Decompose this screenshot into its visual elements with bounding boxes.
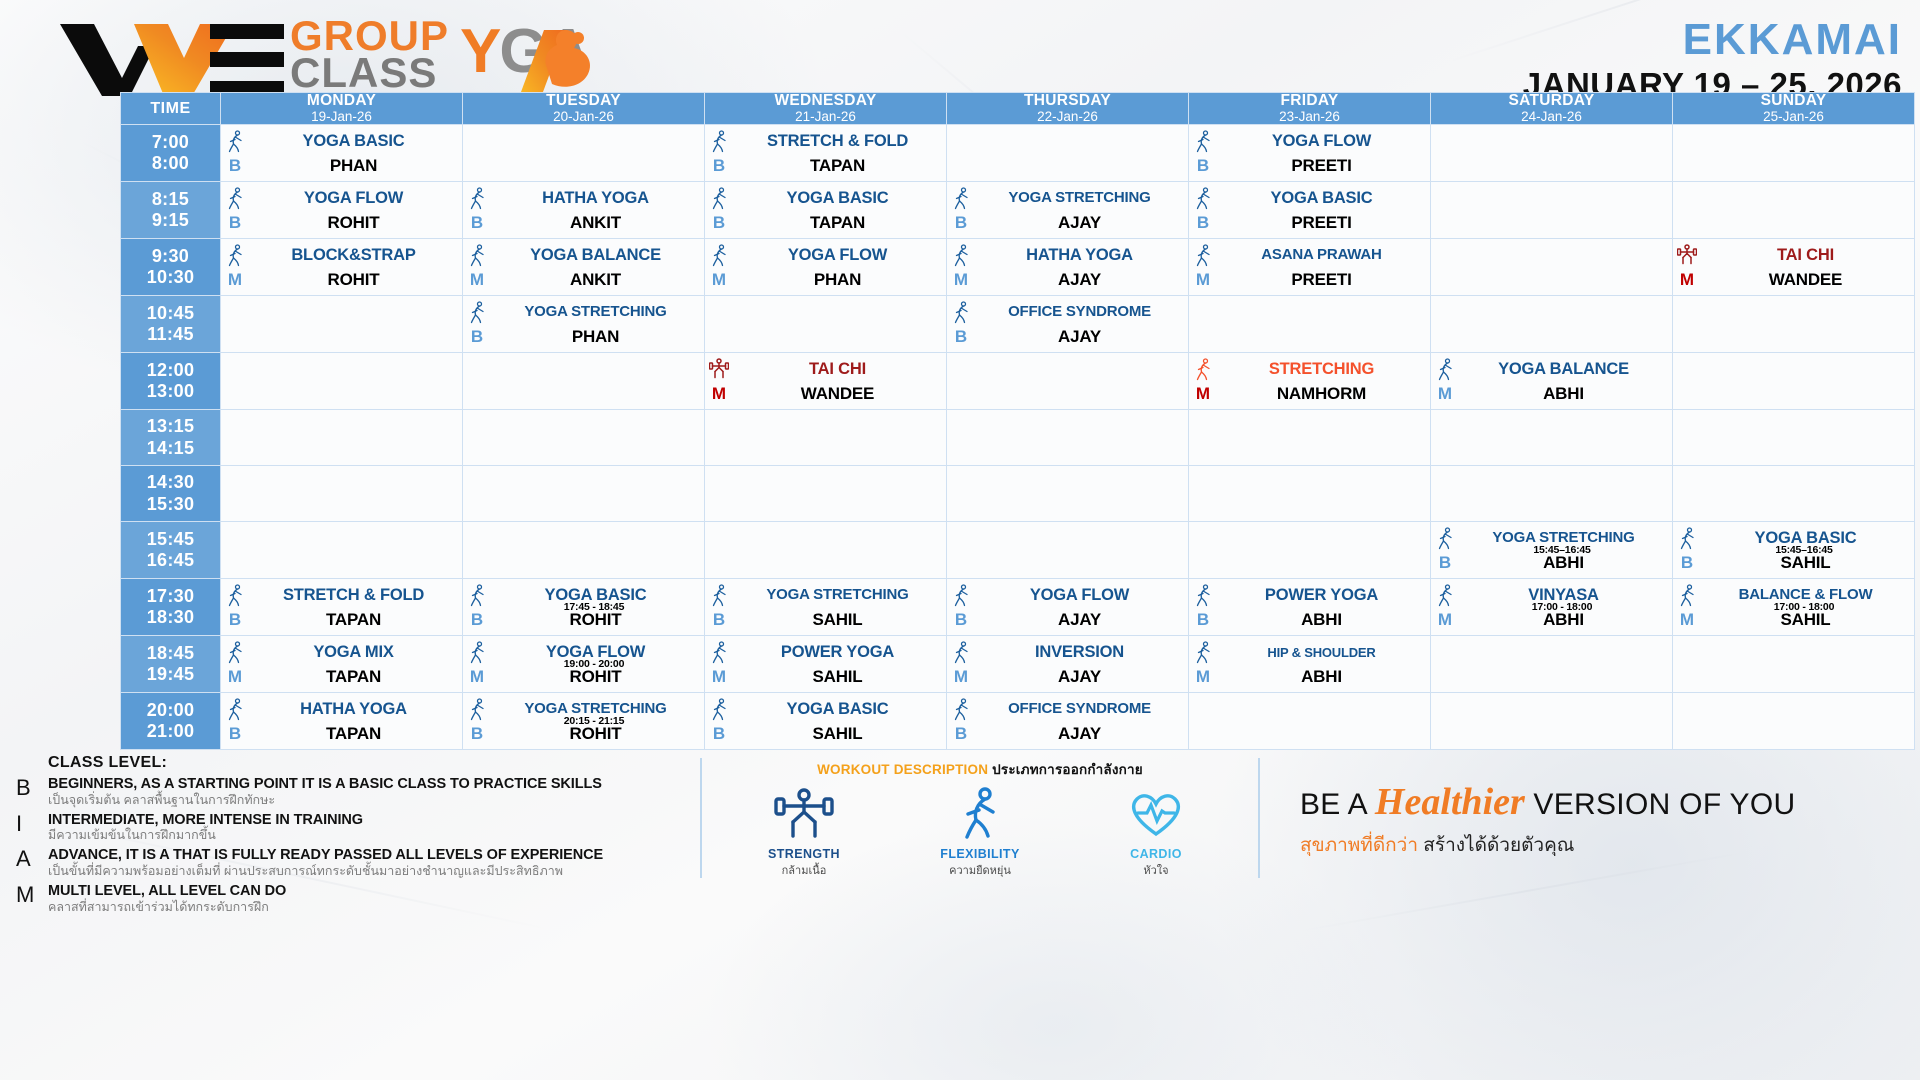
instructor-name: WANDEE	[733, 384, 942, 404]
flexibility-icon-wrap	[708, 697, 730, 721]
class-slot[interactable]: STRETCH & FOLDBTAPAN	[221, 579, 463, 636]
class-level: M	[1676, 270, 1698, 290]
flexibility-icon-wrap	[224, 583, 246, 607]
class-level: M	[1434, 384, 1456, 404]
schedule-row: 15:4516:45YOGA STRETCHING15:45–16:45BABH…	[121, 522, 1915, 579]
flexibility-icon-wrap	[466, 186, 488, 210]
workout-sub-strength: กล้ามเนื้อ	[729, 861, 879, 879]
instructor-name: PREETI	[1217, 156, 1426, 176]
time-end: 14:15	[121, 438, 220, 459]
instructor-name: PHAN	[733, 270, 942, 290]
flexibility-icon-wrap	[466, 300, 488, 324]
time-start: 15:45	[121, 529, 220, 550]
flexibility-icon-wrap	[224, 640, 246, 664]
class-slot[interactable]: VINYASA17:00 - 18:00MABHI	[1431, 579, 1673, 636]
class-level: B	[224, 610, 246, 630]
class-level: B	[950, 724, 972, 744]
class-level: B	[1192, 610, 1214, 630]
flexibility-icon	[953, 641, 970, 664]
instructor-name: ABHI	[1217, 610, 1426, 630]
class-level: M	[1192, 667, 1214, 687]
flexibility-icon-wrap	[1192, 357, 1214, 381]
empty-slot	[463, 125, 705, 182]
empty-slot	[1189, 466, 1431, 522]
empty-slot	[1431, 693, 1673, 750]
time-slot-cell: 10:4511:45	[121, 296, 221, 353]
class-slot[interactable]: YOGA STRETCHING20:15 - 21:15BROHIT	[463, 693, 705, 750]
flexibility-icon	[1195, 187, 1212, 210]
slogan-1c: VERSION OF YOU	[1525, 788, 1796, 821]
day-name: FRIDAY	[1189, 93, 1430, 109]
time-slot-cell: 17:3018:30	[121, 579, 221, 636]
time-start: 10:45	[121, 303, 220, 324]
workout-label-cardio: CARDIO	[1081, 847, 1231, 861]
flexibility-icon-wrap	[466, 583, 488, 607]
time-slot-cell: 18:4519:45	[121, 636, 221, 693]
class-level: B	[466, 724, 488, 744]
class-slot[interactable]: YOGA BASIC15:45–16:45BSAHIL	[1673, 522, 1915, 579]
class-slot[interactable]: YOGA BASICBPHAN	[221, 125, 463, 182]
instructor-name: AJAY	[975, 270, 1184, 290]
class-level-desc-en: BEGINNERS, AS A STARTING POINT IT IS A B…	[48, 776, 780, 793]
empty-slot	[1673, 353, 1915, 410]
class-slot[interactable]: YOGA STRETCHINGBPHAN	[463, 296, 705, 353]
instructor-name: TAPAN	[733, 156, 942, 176]
flexibility-icon-wrap	[224, 186, 246, 210]
day-date: 20-Jan-26	[463, 109, 704, 125]
class-slot[interactable]: YOGA FLOWBPREETI	[1189, 125, 1431, 182]
time-slot-cell: 7:008:00	[121, 125, 221, 182]
class-level: M	[708, 384, 730, 404]
class-name: HIP & SHOULDER	[1217, 646, 1426, 659]
day-date: 25-Jan-26	[1673, 109, 1914, 125]
time-slot-cell: 12:0013:00	[121, 353, 221, 410]
flexibility-icon	[469, 641, 486, 664]
class-level: B	[950, 327, 972, 347]
class-level: B	[1434, 553, 1456, 573]
instructor-name: TAPAN	[249, 667, 458, 687]
flexibility-icon-wrap	[224, 697, 246, 721]
day-date: 24-Jan-26	[1431, 109, 1672, 125]
flexibility-icon-wrap	[708, 243, 730, 267]
empty-slot	[705, 466, 947, 522]
time-column-header: TIME	[121, 93, 221, 125]
cardio-icon	[1127, 786, 1185, 840]
workout-title-en: WORKOUT DESCRIPTION	[817, 762, 988, 777]
instructor-name: PHAN	[491, 327, 700, 347]
schedule-row: 10:4511:45YOGA STRETCHINGBPHANOFFICE SYN…	[121, 296, 1915, 353]
flexibility-icon	[1437, 584, 1454, 607]
strength-icon-wrap	[708, 357, 730, 381]
flexibility-icon	[227, 698, 244, 721]
day-date: 21-Jan-26	[705, 109, 946, 125]
flexibility-icon	[953, 244, 970, 267]
flexibility-icon-wrap	[1676, 583, 1698, 607]
class-level: B	[708, 156, 730, 176]
class-slot[interactable]: YOGA FLOWMPHAN	[705, 239, 947, 296]
instructor-name: TAPAN	[249, 610, 458, 630]
time-slot-cell: 8:159:15	[121, 182, 221, 239]
workout-label-strength: STRENGTH	[729, 847, 879, 861]
class-slot[interactable]: STRETCHINGMNAMHORM	[1189, 353, 1431, 410]
flexibility-icon	[711, 187, 728, 210]
instructor-name: ROHIT	[491, 610, 700, 630]
class-time-note: 17:45 - 18:45	[488, 601, 700, 613]
class-name: OFFICE SYNDROME	[975, 701, 1184, 716]
day-date: 19-Jan-26	[221, 109, 462, 125]
flexibility-icon	[1679, 584, 1696, 607]
flexibility-icon-wrap	[466, 697, 488, 721]
class-time-note: 19:00 - 20:00	[488, 658, 700, 670]
workout-label-flexibility: FLEXIBILITY	[905, 847, 1055, 861]
page-footer: CLASS LEVEL: BBEGINNERS, AS A STARTING P…	[0, 752, 1920, 1080]
class-name: HATHA YOGA	[491, 190, 700, 207]
schedule-row: 9:3010:30BLOCK&STRAPMROHITYOGA BALANCEMA…	[121, 239, 1915, 296]
flexibility-icon-wrap	[950, 697, 972, 721]
brand-logo: GROUP CLASS YGA	[60, 8, 740, 100]
workout-sub-flexibility: ความยืดหยุ่น	[905, 861, 1055, 879]
flexibility-icon-wrap	[1676, 526, 1698, 550]
time-start: 20:00	[121, 700, 220, 721]
class-name: HATHA YOGA	[249, 701, 458, 718]
empty-slot	[1189, 296, 1431, 353]
schedule-body: 7:008:00YOGA BASICBPHANSTRETCH & FOLDBTA…	[121, 125, 1915, 750]
empty-slot	[1431, 410, 1673, 466]
class-slot[interactable]: HATHA YOGABANKIT	[463, 182, 705, 239]
slogan-2b: สร้างได้ด้วยตัวคุณ	[1423, 835, 1574, 856]
time-end: 13:00	[121, 381, 220, 402]
schedule-row: 18:4519:45YOGA MIXMTAPANYOGA FLOW19:00 -…	[121, 636, 1915, 693]
class-name: BLOCK&STRAP	[249, 247, 458, 264]
time-start: 7:00	[121, 132, 220, 153]
class-slot[interactable]: STRETCH & FOLDBTAPAN	[705, 125, 947, 182]
day-column-header-friday: FRIDAY23-Jan-26	[1189, 93, 1431, 125]
logo-yoga-y: Y	[460, 17, 499, 86]
flexibility-icon-wrap	[466, 243, 488, 267]
instructor-name: AJAY	[975, 610, 1184, 630]
slogan-2a: สุขภาพที่ดีกว่า	[1300, 835, 1423, 856]
instructor-name: ROHIT	[249, 213, 458, 233]
instructor-name: AJAY	[975, 667, 1184, 687]
flexibility-icon-wrap	[950, 640, 972, 664]
class-level: B	[466, 327, 488, 347]
instructor-name: SAHIL	[1701, 553, 1910, 573]
flexibility-icon	[1195, 584, 1212, 607]
time-slot-cell: 15:4516:45	[121, 522, 221, 579]
class-time-note: 20:15 - 21:15	[488, 715, 700, 727]
class-level-letter: B	[10, 776, 48, 799]
class-slot[interactable]: YOGA STRETCHING15:45–16:45BABHI	[1431, 522, 1673, 579]
class-level-desc-en: INTERMEDIATE, MORE INTENSE IN TRAINING	[48, 812, 780, 829]
empty-slot	[1673, 125, 1915, 182]
schedule-row: 14:3015:30	[121, 466, 1915, 522]
class-level: B	[224, 156, 246, 176]
workout-items: STRENGTH กล้ามเนื้อ FLEXIBILITY ความยืดห…	[716, 786, 1244, 879]
day-name: TUESDAY	[463, 93, 704, 109]
class-level: M	[950, 667, 972, 687]
group-class-wordmark: GROUP CLASS	[290, 18, 449, 92]
class-level-letter: A	[10, 847, 48, 870]
class-slot[interactable]: YOGA FLOWBAJAY	[947, 579, 1189, 636]
instructor-name: ABHI	[1217, 667, 1426, 687]
class-name: YOGA FLOW	[249, 190, 458, 207]
flexibility-icon	[1195, 641, 1212, 664]
flexibility-icon	[953, 301, 970, 324]
instructor-name: PREETI	[1217, 213, 1426, 233]
class-name: TAI CHI	[733, 361, 942, 378]
class-slot[interactable]: BALANCE & FLOW17:00 - 18:00MSAHIL	[1673, 579, 1915, 636]
class-name: TAI CHI	[1701, 247, 1910, 264]
class-level-desc-th: เป็นขั้นที่มีความพร้อมอย่างเต็มที่ ผ่านป…	[48, 864, 780, 879]
class-slot[interactable]: TAI CHIMWANDEE	[705, 353, 947, 410]
time-start: 8:15	[121, 189, 220, 210]
flexibility-icon	[227, 584, 244, 607]
class-slot[interactable]: YOGA BALANCEMANKIT	[463, 239, 705, 296]
instructor-name: PREETI	[1217, 270, 1426, 290]
class-slot[interactable]: YOGA FLOW19:00 - 20:00MROHIT	[463, 636, 705, 693]
class-slot[interactable]: YOGA BASICBSAHIL	[705, 693, 947, 750]
class-name: YOGA FLOW	[1217, 133, 1426, 150]
class-slot[interactable]: HIP & SHOULDERMABHI	[1189, 636, 1431, 693]
instructor-name: ABHI	[1459, 610, 1668, 630]
instructor-name: ABHI	[1459, 553, 1668, 573]
time-start: 17:30	[121, 586, 220, 607]
day-column-header-tuesday: TUESDAY20-Jan-26	[463, 93, 705, 125]
day-name: MONDAY	[221, 93, 462, 109]
empty-slot	[221, 353, 463, 410]
workout-description-legend: WORKOUT DESCRIPTION ประเภทการออกกำลังกาย…	[700, 758, 1260, 878]
schedule-row: 20:0021:00HATHA YOGABTAPANYOGA STRETCHIN…	[121, 693, 1915, 750]
flexibility-icon	[1195, 130, 1212, 153]
slogan-line-1: BE A Healthier VERSION OF YOU	[1300, 780, 1900, 824]
flexibility-icon	[469, 244, 486, 267]
flexibility-icon-wrap	[708, 129, 730, 153]
yoga-pose-icon	[500, 26, 620, 102]
workout-item-strength: STRENGTH กล้ามเนื้อ	[729, 786, 879, 879]
page-header: GROUP CLASS YGA EKKAMAI JANUARY 19 – 25,…	[0, 0, 1920, 100]
class-name: POWER YOGA	[733, 644, 942, 661]
time-slot-cell: 13:1514:15	[121, 410, 221, 466]
flexibility-icon	[1195, 244, 1212, 267]
class-level-row: MMULTI LEVEL, ALL LEVEL CAN DOคลาสที่สาม…	[10, 883, 780, 915]
slogan-1a: BE A	[1300, 788, 1375, 821]
flexibility-icon	[711, 244, 728, 267]
schedule-row: 8:159:15YOGA FLOWBROHITHATHA YOGABANKITY…	[121, 182, 1915, 239]
class-level-desc-th: เป็นจุดเริ่มต้น คลาสพื้นฐานในการฝึกทักษะ	[48, 793, 780, 808]
flexibility-icon	[469, 584, 486, 607]
class-name: YOGA STRETCHING	[491, 304, 700, 319]
empty-slot	[705, 410, 947, 466]
class-name: STRETCHING	[1217, 361, 1426, 378]
workout-description-title: WORKOUT DESCRIPTION ประเภทการออกกำลังกาย	[716, 758, 1244, 780]
flexibility-icon	[1437, 358, 1454, 381]
time-slot-cell: 20:0021:00	[121, 693, 221, 750]
class-level: B	[224, 213, 246, 233]
flexibility-icon	[469, 698, 486, 721]
class-level: B	[708, 724, 730, 744]
flexibility-icon	[953, 698, 970, 721]
class-name: YOGA MIX	[249, 644, 458, 661]
empty-slot	[221, 466, 463, 522]
flexibility-icon-wrap	[708, 186, 730, 210]
instructor-name: TAPAN	[249, 724, 458, 744]
class-slot[interactable]: YOGA BASICBTAPAN	[705, 182, 947, 239]
flexibility-icon-wrap	[1192, 583, 1214, 607]
time-end: 9:15	[121, 210, 220, 231]
class-time-note: 15:45–16:45	[1456, 544, 1668, 556]
empty-slot	[463, 466, 705, 522]
empty-slot	[947, 522, 1189, 579]
class-level: M	[224, 667, 246, 687]
strength-icon	[771, 786, 837, 840]
time-start: 18:45	[121, 643, 220, 664]
day-date: 23-Jan-26	[1189, 109, 1430, 125]
day-column-header-monday: MONDAY19-Jan-26	[221, 93, 463, 125]
schedule-row: 13:1514:15	[121, 410, 1915, 466]
class-slot[interactable]: YOGA BASIC17:45 - 18:45BROHIT	[463, 579, 705, 636]
day-name: WEDNESDAY	[705, 93, 946, 109]
class-slot[interactable]: POWER YOGAMSAHIL	[705, 636, 947, 693]
class-level-legend: CLASS LEVEL: BBEGINNERS, AS A STARTING P…	[10, 754, 780, 915]
schedule-row: 17:3018:30STRETCH & FOLDBTAPANYOGA BASIC…	[121, 579, 1915, 636]
class-time-note: 17:00 - 18:00	[1456, 601, 1668, 613]
class-slot[interactable]: YOGA BASICBPREETI	[1189, 182, 1431, 239]
empty-slot	[463, 522, 705, 579]
class-level-desc-th: คลาสที่สามารถเข้าร่วมได้ทกระดับการฝึก	[48, 900, 780, 915]
class-slot[interactable]: INVERSIONMAJAY	[947, 636, 1189, 693]
flexibility-icon-wrap	[1192, 243, 1214, 267]
day-name: SUNDAY	[1673, 93, 1914, 109]
strength-icon	[709, 358, 729, 380]
empty-slot	[1431, 466, 1673, 522]
class-slot[interactable]: YOGA STRETCHINGBSAHIL	[705, 579, 947, 636]
empty-slot	[947, 125, 1189, 182]
class-level-desc-en: ADVANCE, IT IS A THAT IS FULLY READY PAS…	[48, 847, 780, 864]
class-slot[interactable]: ASANA PRAWAHMPREETI	[1189, 239, 1431, 296]
flexibility-icon	[1679, 527, 1696, 550]
instructor-name: WANDEE	[1701, 270, 1910, 290]
class-slot[interactable]: HATHA YOGABTAPAN	[221, 693, 463, 750]
empty-slot	[1189, 693, 1431, 750]
workout-title-th: ประเภทการออกกำลังกาย	[992, 762, 1143, 777]
empty-slot	[1673, 636, 1915, 693]
flexibility-icon-wrap	[1434, 526, 1456, 550]
class-slot[interactable]: YOGA MIXMTAPAN	[221, 636, 463, 693]
empty-slot	[1431, 182, 1673, 239]
class-name: STRETCH & FOLD	[249, 587, 458, 604]
time-start: 13:15	[121, 416, 220, 437]
class-slot[interactable]: OFFICE SYNDROMEBAJAY	[947, 296, 1189, 353]
class-level: B	[708, 610, 730, 630]
class-slot[interactable]: OFFICE SYNDROMEBAJAY	[947, 693, 1189, 750]
instructor-name: PHAN	[249, 156, 458, 176]
instructor-name: SAHIL	[733, 724, 942, 744]
class-slot[interactable]: TAI CHIMWANDEE	[1673, 239, 1915, 296]
schedule-table: TIME MONDAY19-Jan-26TUESDAY20-Jan-26WEDN…	[120, 92, 1915, 750]
day-column-header-wednesday: WEDNESDAY21-Jan-26	[705, 93, 947, 125]
class-level: B	[1676, 553, 1698, 573]
empty-slot	[221, 410, 463, 466]
schedule-row: 12:0013:00TAI CHIMWANDEESTRETCHINGMNAMHO…	[121, 353, 1915, 410]
class-name: YOGA FLOW	[733, 247, 942, 264]
instructor-name: ROHIT	[491, 667, 700, 687]
class-level: M	[1192, 270, 1214, 290]
flexibility-icon	[469, 187, 486, 210]
instructor-name: ROHIT	[249, 270, 458, 290]
class-slot[interactable]: POWER YOGABABHI	[1189, 579, 1431, 636]
class-time-note: 15:45–16:45	[1698, 544, 1910, 556]
flexibility-icon	[711, 584, 728, 607]
class-slot[interactable]: HATHA YOGAMAJAY	[947, 239, 1189, 296]
flexibility-icon	[711, 641, 728, 664]
flexibility-icon-wrap	[1434, 583, 1456, 607]
strength-icon-wrap	[1676, 243, 1698, 267]
empty-slot	[947, 410, 1189, 466]
instructor-name: ANKIT	[491, 213, 700, 233]
class-name: YOGA STRETCHING	[975, 190, 1184, 205]
class-slot[interactable]: YOGA FLOWBROHIT	[221, 182, 463, 239]
class-slot[interactable]: YOGA BALANCEMABHI	[1431, 353, 1673, 410]
flexibility-icon	[227, 641, 244, 664]
class-time-note: 17:00 - 18:00	[1698, 601, 1910, 613]
flexibility-icon	[711, 698, 728, 721]
time-end: 15:30	[121, 494, 220, 515]
empty-slot	[463, 353, 705, 410]
class-level-letter: M	[10, 883, 48, 906]
empty-slot	[1431, 636, 1673, 693]
class-level-row: BBEGINNERS, AS A STARTING POINT IT IS A …	[10, 776, 780, 808]
class-level-row: AADVANCE, IT IS A THAT IS FULLY READY PA…	[10, 847, 780, 879]
slogan-block: BE A Healthier VERSION OF YOU สุขภาพที่ด…	[1300, 780, 1900, 860]
day-name: SATURDAY	[1431, 93, 1672, 109]
empty-slot	[947, 353, 1189, 410]
time-end: 11:45	[121, 324, 220, 345]
day-column-header-sunday: SUNDAY25-Jan-26	[1673, 93, 1915, 125]
flexibility-icon-wrap	[950, 186, 972, 210]
class-slot[interactable]: BLOCK&STRAPMROHIT	[221, 239, 463, 296]
class-level: M	[466, 667, 488, 687]
flexibility-icon-wrap	[950, 583, 972, 607]
class-name: YOGA BASIC	[733, 190, 942, 207]
flexibility-icon-wrap	[950, 300, 972, 324]
class-level: M	[224, 270, 246, 290]
class-level-desc-en: MULTI LEVEL, ALL LEVEL CAN DO	[48, 883, 780, 900]
flexibility-icon	[953, 187, 970, 210]
empty-slot	[221, 296, 463, 353]
class-name: INVERSION	[975, 644, 1184, 661]
flexibility-icon	[227, 130, 244, 153]
empty-slot	[1673, 693, 1915, 750]
strength-icon	[1677, 244, 1697, 266]
class-name: STRETCH & FOLD	[733, 133, 942, 150]
empty-slot	[1673, 296, 1915, 353]
instructor-name: SAHIL	[1701, 610, 1910, 630]
day-column-header-thursday: THURSDAY22-Jan-26	[947, 93, 1189, 125]
flexibility-icon-wrap	[1192, 129, 1214, 153]
class-level: B	[708, 213, 730, 233]
empty-slot	[1673, 410, 1915, 466]
class-slot[interactable]: YOGA STRETCHINGBAJAY	[947, 182, 1189, 239]
flexibility-icon-wrap	[1192, 186, 1214, 210]
empty-slot	[705, 296, 947, 353]
empty-slot	[1189, 522, 1431, 579]
flexibility-icon-wrap	[224, 129, 246, 153]
flexibility-icon-wrap	[950, 243, 972, 267]
class-name: POWER YOGA	[1217, 587, 1426, 604]
empty-slot	[1431, 239, 1673, 296]
logo-class-text: CLASS	[290, 55, 449, 92]
class-level: B	[1192, 156, 1214, 176]
